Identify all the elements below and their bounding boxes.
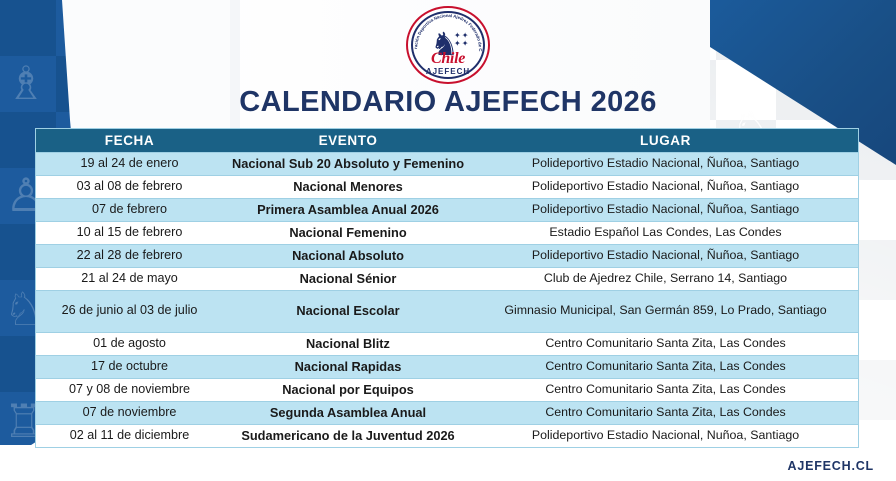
- cell-lugar: Gimnasio Municipal, San Germán 859, Lo P…: [473, 290, 858, 332]
- cell-lugar: Estadio Español Las Condes, Las Condes: [473, 221, 858, 244]
- cell-lugar: Polideportivo Estadio Nacional, Ñuñoa, S…: [473, 152, 858, 175]
- cell-lugar: Centro Comunitario Santa Zita, Las Conde…: [473, 355, 858, 378]
- cell-lugar: Centro Comunitario Santa Zita, Las Conde…: [473, 378, 858, 401]
- table-row: 07 de febreroPrimera Asamblea Anual 2026…: [36, 198, 858, 221]
- table-row: 10 al 15 de febreroNacional FemeninoEsta…: [36, 221, 858, 244]
- table-row: 21 al 24 de mayoNacional SéniorClub de A…: [36, 267, 858, 290]
- table-row: 19 al 24 de eneroNacional Sub 20 Absolut…: [36, 152, 858, 175]
- column-header-fecha: FECHA: [36, 129, 223, 152]
- calendar-table: FECHA EVENTO LUGAR 19 al 24 de eneroNaci…: [36, 129, 858, 447]
- ajefech-logo: Federación Deportiva Nacional Ajedrez Fe…: [406, 6, 490, 84]
- cell-evento: Nacional Blitz: [223, 332, 473, 355]
- page-title: CALENDARIO AJEFECH 2026: [239, 86, 656, 119]
- cell-fecha: 07 y 08 de noviembre: [36, 378, 223, 401]
- cell-fecha: 19 al 24 de enero: [36, 152, 223, 175]
- column-header-evento: EVENTO: [223, 129, 473, 152]
- cell-evento: Nacional Escolar: [223, 290, 473, 332]
- cell-evento: Sudamericano de la Juventud 2026: [223, 424, 473, 447]
- cell-fecha: 10 al 15 de febrero: [36, 221, 223, 244]
- table-row: 07 de noviembreSegunda Asamblea AnualCen…: [36, 401, 858, 424]
- cell-fecha: 07 de febrero: [36, 198, 223, 221]
- cell-lugar: Centro Comunitario Santa Zita, Las Conde…: [473, 401, 858, 424]
- cell-evento: Nacional Femenino: [223, 221, 473, 244]
- cell-fecha: 02 al 11 de diciembre: [36, 424, 223, 447]
- cell-lugar: Club de Ajedrez Chile, Serrano 14, Santi…: [473, 267, 858, 290]
- cell-evento: Nacional Rapidas: [223, 355, 473, 378]
- cell-fecha: 01 de agosto: [36, 332, 223, 355]
- table-row: 01 de agostoNacional BlitzCentro Comunit…: [36, 332, 858, 355]
- table-row: 22 al 28 de febreroNacional AbsolutoPoli…: [36, 244, 858, 267]
- table-row: 07 y 08 de noviembreNacional por Equipos…: [36, 378, 858, 401]
- table-row: 02 al 11 de diciembreSudamericano de la …: [36, 424, 858, 447]
- cell-fecha: 07 de noviembre: [36, 401, 223, 424]
- cell-evento: Nacional Sub 20 Absoluto y Femenino: [223, 152, 473, 175]
- logo-org-label: AJEFECH: [406, 67, 490, 76]
- table-body: 19 al 24 de eneroNacional Sub 20 Absolut…: [36, 152, 858, 447]
- cell-evento: Primera Asamblea Anual 2026: [223, 198, 473, 221]
- cell-lugar: Polideportivo Estadio Nacional, Nuñoa, S…: [473, 424, 858, 447]
- table-header: FECHA EVENTO LUGAR: [36, 129, 858, 152]
- cell-fecha: 17 de octubre: [36, 355, 223, 378]
- cell-fecha: 22 al 28 de febrero: [36, 244, 223, 267]
- cell-evento: Nacional Menores: [223, 175, 473, 198]
- cell-lugar: Polideportivo Estadio Nacional, Ñuñoa, S…: [473, 175, 858, 198]
- column-header-lugar: LUGAR: [473, 129, 858, 152]
- cell-fecha: 21 al 24 de mayo: [36, 267, 223, 290]
- cell-lugar: Centro Comunitario Santa Zita, Las Conde…: [473, 332, 858, 355]
- cell-evento: Segunda Asamblea Anual: [223, 401, 473, 424]
- table-header-row: FECHA EVENTO LUGAR: [36, 129, 858, 152]
- cell-evento: Nacional Sénior: [223, 267, 473, 290]
- logo-country-label: Chile: [406, 50, 490, 68]
- table-row: 17 de octubreNacional RapidasCentro Comu…: [36, 355, 858, 378]
- cell-lugar: Polideportivo Estadio Nacional, Ñuñoa, S…: [473, 244, 858, 267]
- cell-evento: Nacional por Equipos: [223, 378, 473, 401]
- cell-evento: Nacional Absoluto: [223, 244, 473, 267]
- footer-brand: AJEFECH.CL: [788, 459, 874, 473]
- cell-fecha: 03 al 08 de febrero: [36, 175, 223, 198]
- cell-fecha: 26 de junio al 03 de julio: [36, 290, 223, 332]
- table-row: 26 de junio al 03 de julioNacional Escol…: [36, 290, 858, 332]
- cell-lugar: Polideportivo Estadio Nacional, Ñuñoa, S…: [473, 198, 858, 221]
- table-row: 03 al 08 de febreroNacional MenoresPolid…: [36, 175, 858, 198]
- stars-icon: ✦✦✦✦: [454, 32, 476, 48]
- page-header: Federación Deportiva Nacional Ajedrez Fe…: [0, 0, 896, 128]
